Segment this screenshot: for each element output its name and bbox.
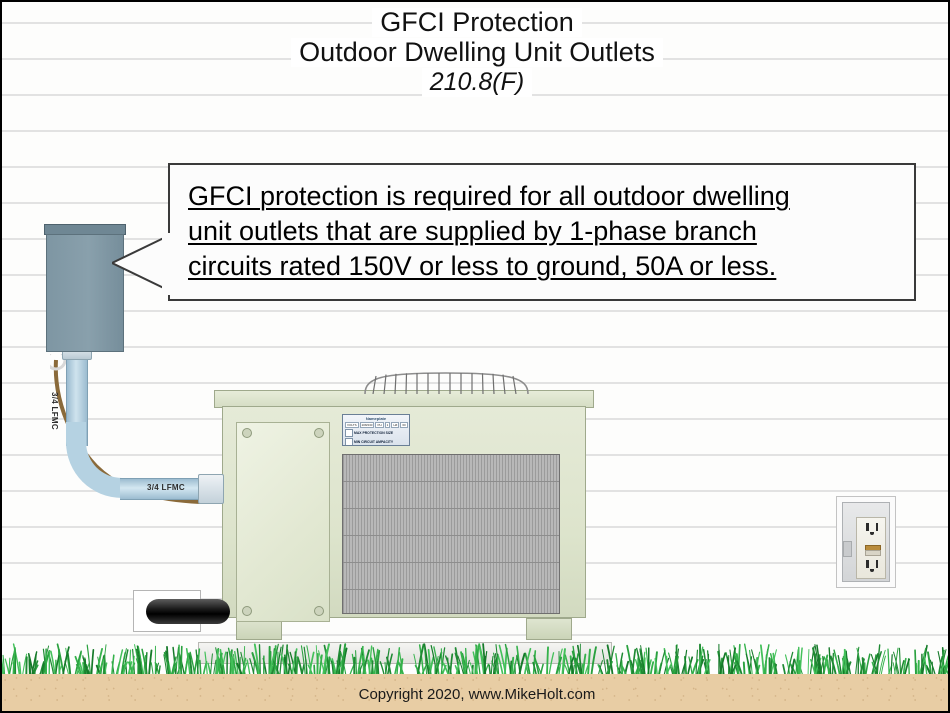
outlet-box-hinge [843,541,852,557]
ac-condenser-unit: Nameplate VOLTS 208/230 PH 1 HZ 60 MAX P… [214,372,594,657]
weatherproof-outlet-box [842,502,890,582]
gfci-top-outlet[interactable] [865,523,879,535]
nameplate-min-ampacity-label: MIN CIRCUIT AMPACITY [354,440,393,445]
gfci-test-reset-buttons[interactable] [865,545,879,554]
callout-line-3: circuits rated 150V or less to ground, 5… [188,249,902,284]
nameplate-title: Nameplate [345,416,407,421]
nameplate-hz-label: HZ [391,422,399,428]
page-title-line-3: 210.8(F) [422,68,532,97]
nameplate-row-min-ampacity: MIN CIRCUIT AMPACITY [345,438,407,446]
nameplate-max-protection-label: MAX PROTECTION SIZE [354,431,393,436]
panel-screw-top-right [314,428,324,438]
slide-canvas: GFCI Protection Outdoor Dwelling Unit Ou… [0,0,950,713]
siding-line [2,310,950,312]
ac-access-panel [236,422,330,622]
conduit-label-horizontal: 3/4 LFMC [147,483,185,492]
conduit-label-vertical: 3/4 LFMC [50,392,59,430]
gfci-device-faceplate[interactable] [856,517,886,579]
callout-pointer-icon [112,233,172,295]
callout-line-2: unit outlets that are supplied by 1-phas… [188,214,902,249]
refrigerant-line [146,599,230,624]
nameplate-max-protection-box [345,429,353,437]
panel-screw-top-left [242,428,252,438]
page-title-line-2: Outdoor Dwelling Unit Outlets [291,38,663,67]
gfci-test-button[interactable] [865,550,881,556]
nameplate-min-ampacity-box [345,438,353,446]
nameplate-hz-value: 60 [400,422,407,428]
nameplate-phase-label: PH [375,422,383,428]
condenser-coil [342,454,560,614]
callout-box: GFCI protection is required for all outd… [168,163,916,301]
fan-grille-icon [359,372,534,394]
callout-text: GFCI protection is required for all outd… [170,165,914,284]
nameplate-phase-value: 1 [385,422,391,428]
callout-line-1: GFCI protection is required for all outd… [188,179,902,214]
gfci-receptacle-assembly[interactable] [836,496,896,588]
panel-screw-bottom-left [242,606,252,616]
equipment-nameplate: Nameplate VOLTS 208/230 PH 1 HZ 60 MAX P… [342,414,410,446]
siding-line [2,346,950,348]
gfci-bottom-outlet[interactable] [865,560,879,572]
nameplate-row-ratings: VOLTS 208/230 PH 1 HZ 60 [345,422,407,428]
copyright-footer: Copyright 2020, www.MikeHolt.com [2,686,950,703]
title-block: GFCI Protection Outdoor Dwelling Unit Ou… [2,6,950,97]
ac-foot-right [526,618,572,640]
panel-screw-bottom-right [314,606,324,616]
nameplate-row-max-protection: MAX PROTECTION SIZE [345,429,407,437]
page-title-line-1: GFCI Protection [372,8,582,37]
siding-line [2,130,950,132]
nameplate-volts-value: 208/230 [360,422,375,428]
conduit-fitting-right [198,474,224,504]
nameplate-volts-label: VOLTS [345,422,359,428]
